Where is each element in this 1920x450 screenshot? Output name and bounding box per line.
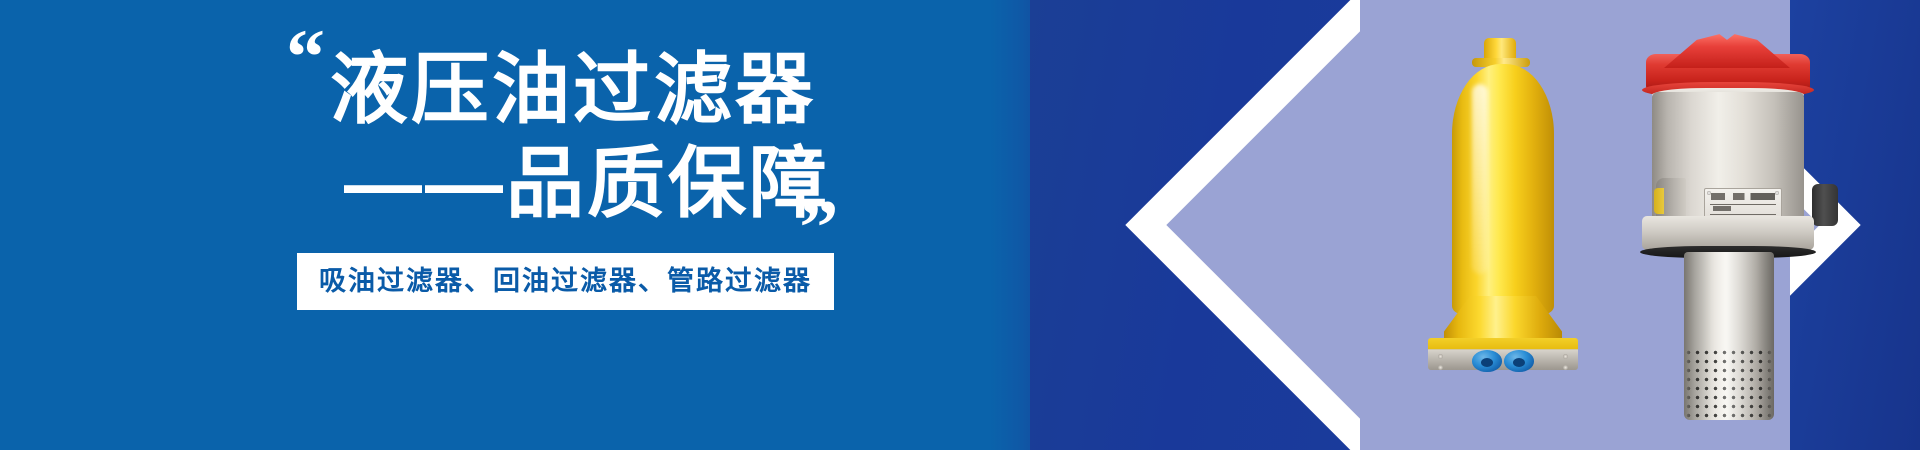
- yellow-filter-port-right: [1504, 350, 1534, 372]
- yellow-filter-bolt: [1563, 365, 1568, 370]
- yellow-filter-port-left: [1472, 350, 1502, 372]
- yellow-filter-body: [1452, 64, 1554, 314]
- nameplate-screw: [1775, 191, 1779, 195]
- close-quote-icon: „: [800, 148, 839, 226]
- return-filter-knob: [1812, 184, 1838, 226]
- headline-block: “ 液压油过滤器 ——品质保障 „ 吸油过滤器、回油过滤器、管路过滤器: [0, 0, 1030, 450]
- return-filter-mesh-screen: [1684, 348, 1774, 420]
- nameplate-screw: [1707, 191, 1711, 195]
- product-showcase-panel: [1030, 0, 1920, 450]
- headline-line-1: 液压油过滤器: [330, 48, 816, 131]
- product-banner: “ 液压油过滤器 ——品质保障 „ 吸油过滤器、回油过滤器、管路过滤器: [0, 0, 1920, 450]
- nameplate-rule: [1710, 214, 1776, 215]
- nameplate-text: [1713, 206, 1731, 211]
- open-quote-icon: “: [286, 18, 325, 96]
- nameplate-rule: [1710, 204, 1776, 205]
- return-filter-flange: [1642, 216, 1814, 250]
- yellow-filter-base-metal: [1428, 350, 1578, 370]
- return-filter-cap-crest: [1664, 32, 1790, 68]
- return-filter-head: [1652, 92, 1804, 222]
- yellow-filter-bolt: [1438, 365, 1443, 370]
- yellow-filter-highlight: [1472, 84, 1488, 274]
- subtitle-text: 吸油过滤器、回油过滤器、管路过滤器: [319, 265, 812, 297]
- subtitle-box: 吸油过滤器、回油过滤器、管路过滤器: [297, 253, 834, 310]
- product-image-yellow-filter: [1428, 38, 1578, 368]
- yellow-filter-cap: [1484, 38, 1516, 60]
- product-image-return-filter: [1628, 30, 1828, 425]
- nameplate-header-row: [1711, 193, 1775, 200]
- yellow-filter-bolt: [1438, 354, 1443, 359]
- headline-line-2: ——品质保障: [330, 142, 830, 225]
- yellow-filter-bolt: [1563, 354, 1568, 359]
